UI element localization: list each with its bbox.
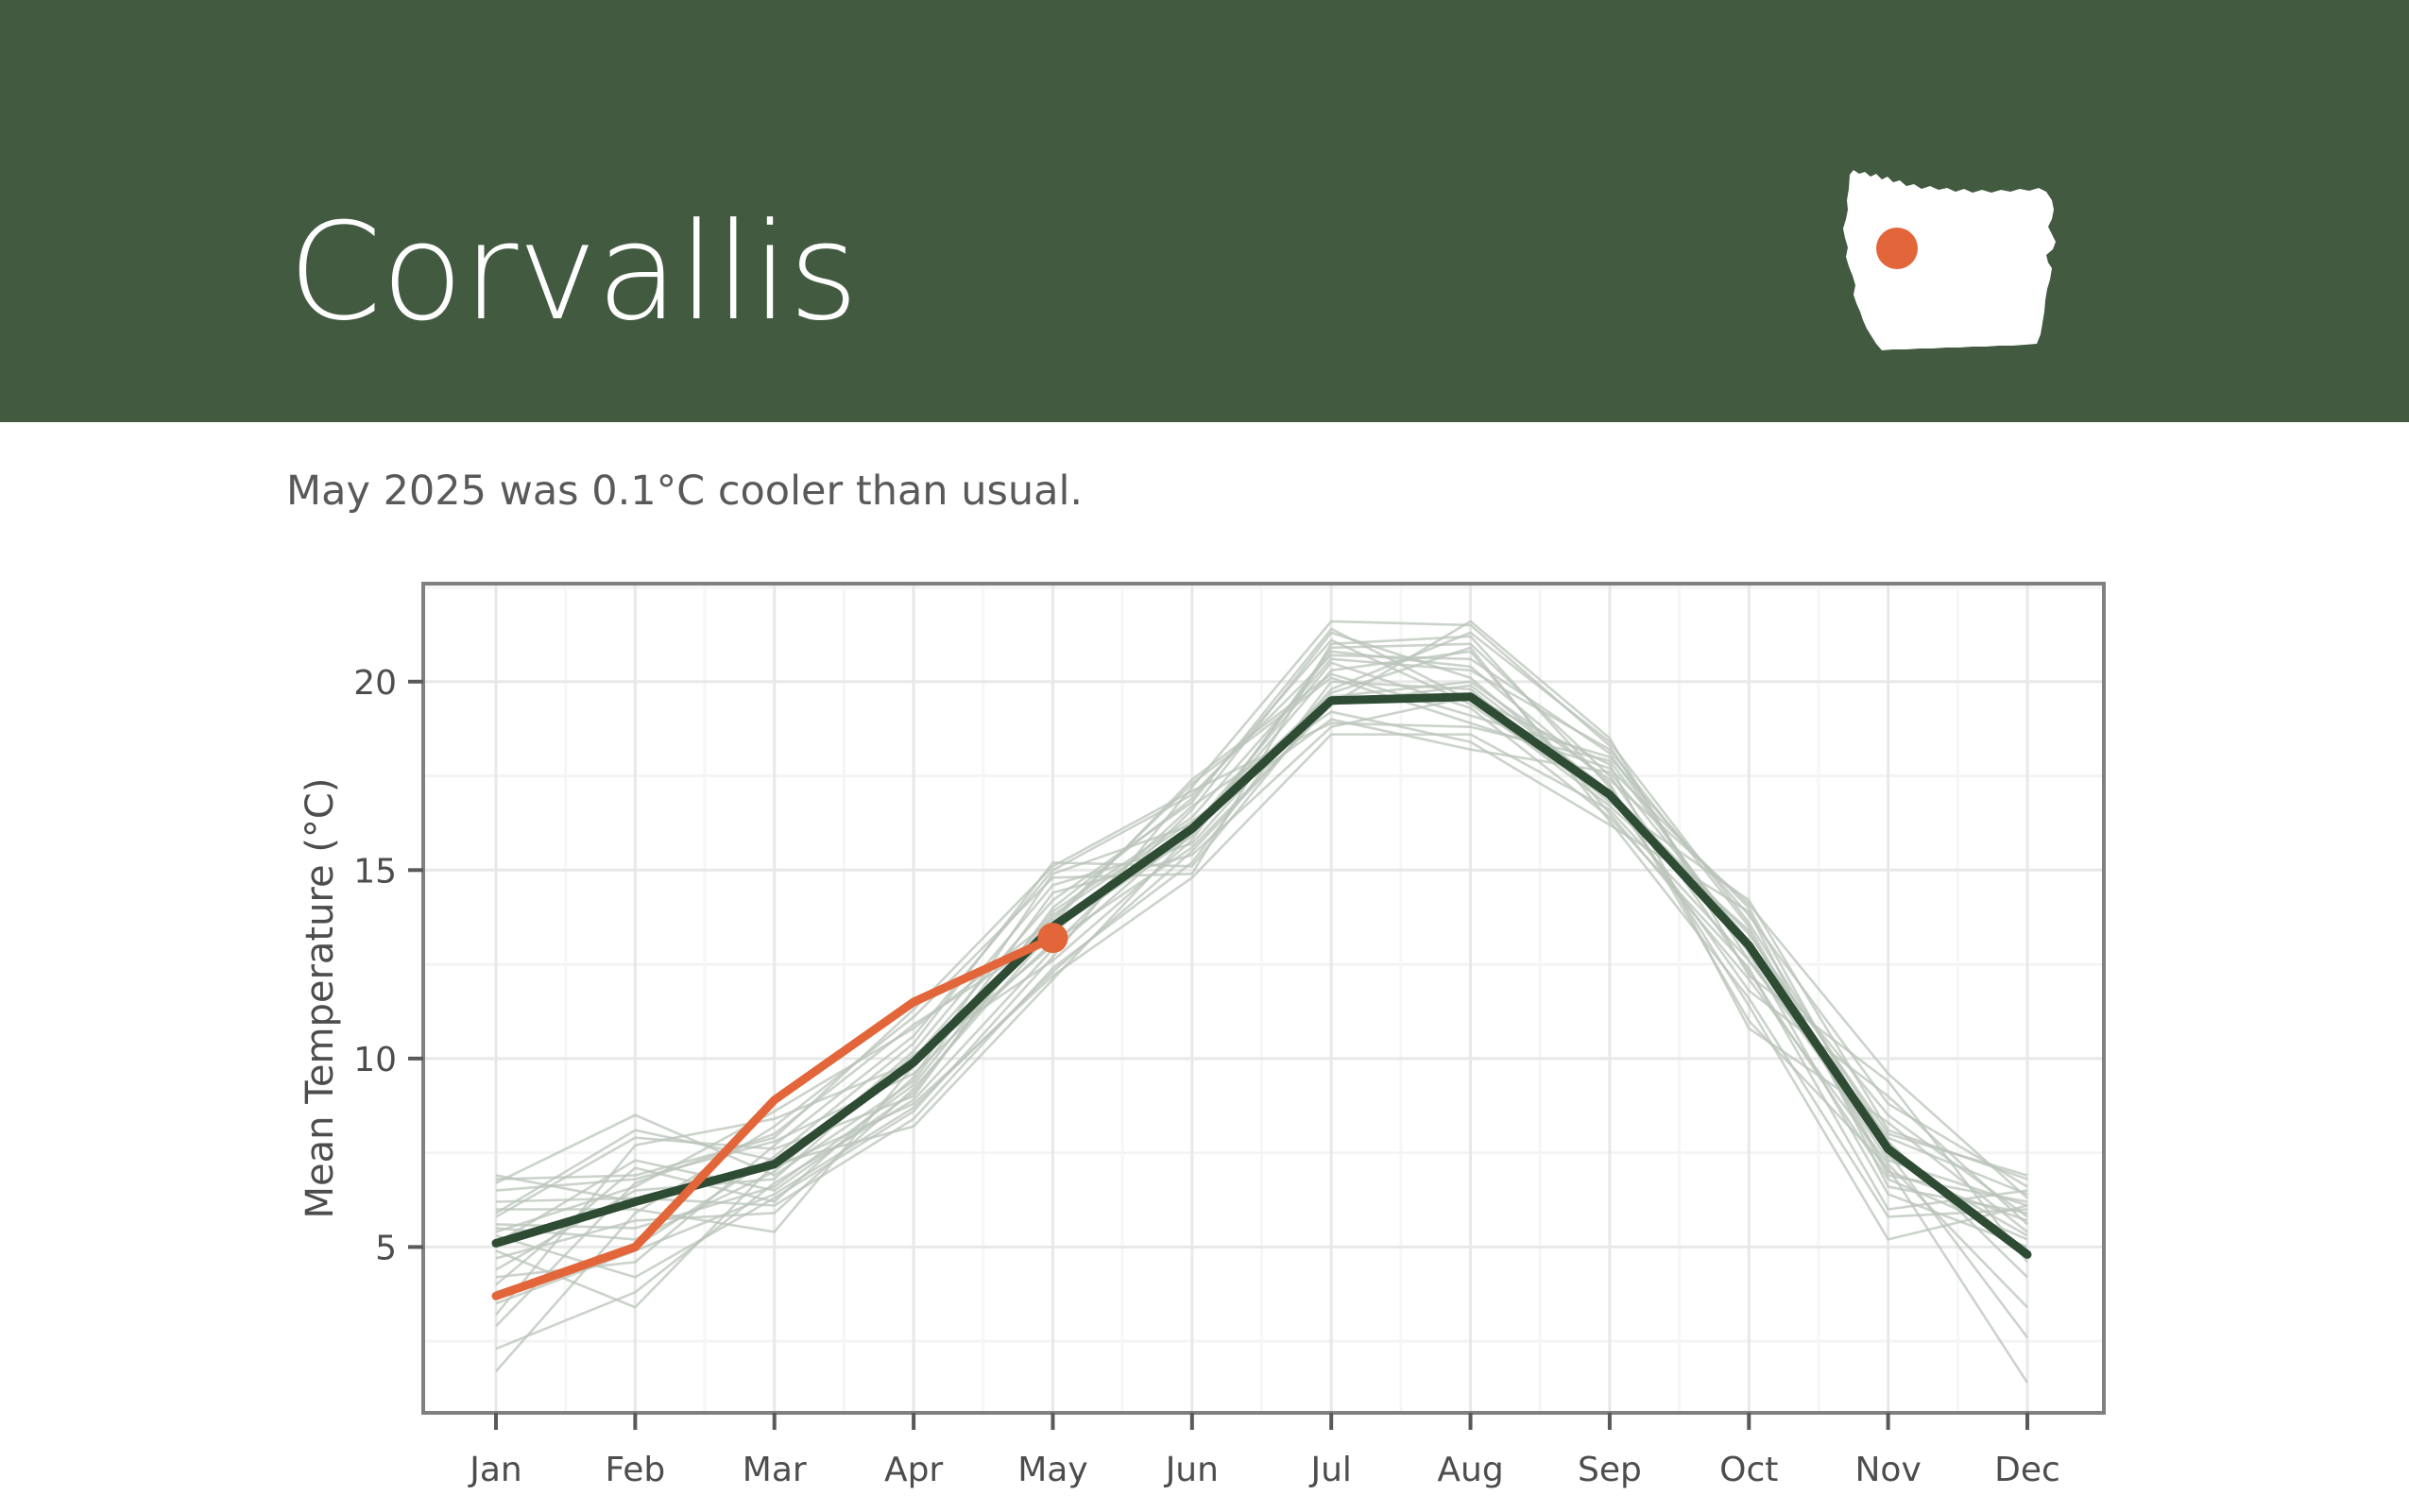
x-tick-label: Nov <box>1855 1451 1922 1489</box>
current-month-marker <box>1037 923 1068 953</box>
screenshot-root: Corvallis May 2025 was 0.1°C cooler than… <box>0 0 2409 1512</box>
chart-minor-gridlines <box>423 584 2104 1413</box>
x-tick-label: Oct <box>1719 1451 1778 1489</box>
y-axis-title: Mean Temperature (°C) <box>299 778 342 1219</box>
x-tick-label: Jan <box>468 1451 522 1489</box>
x-tick-label: Feb <box>605 1451 665 1489</box>
x-tick-label: Jul <box>1308 1451 1351 1489</box>
y-tick-label: 15 <box>353 852 397 891</box>
plot-border <box>423 584 2104 1413</box>
chart-major-gridlines <box>423 584 2104 1413</box>
temperature-chart: 5101520 JanFebMarAprMayJunJulAugSepOctNo… <box>0 0 2409 1512</box>
x-tick-label: Apr <box>884 1451 943 1489</box>
y-axis-ticks: 5101520 <box>353 664 423 1268</box>
x-tick-label: Aug <box>1437 1451 1503 1489</box>
x-tick-label: Dec <box>1994 1451 2060 1489</box>
y-tick-label: 10 <box>353 1041 397 1079</box>
y-tick-label: 20 <box>353 664 397 703</box>
y-tick-label: 5 <box>375 1229 397 1267</box>
x-tick-label: Sep <box>1578 1451 1642 1489</box>
y-axis-title: Mean Temperature (°C) <box>299 778 342 1219</box>
x-axis-ticks: JanFebMarAprMayJunJulAugSepOctNovDec <box>468 1413 2060 1489</box>
x-tick-label: Mar <box>743 1451 807 1489</box>
x-tick-label: May <box>1017 1451 1087 1489</box>
x-tick-label: Jun <box>1164 1451 1219 1489</box>
chart-plot-border <box>423 584 2104 1413</box>
